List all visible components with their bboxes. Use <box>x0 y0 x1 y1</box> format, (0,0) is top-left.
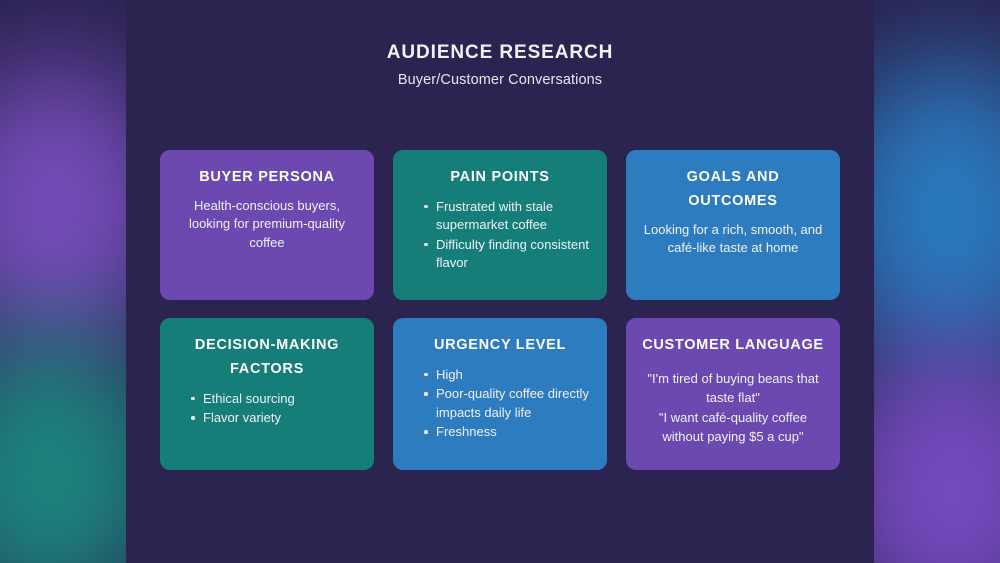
list-item: Poor-quality coffee directly impacts dai… <box>423 385 591 422</box>
card-body: Health-conscious buyers, looking for pre… <box>176 197 358 252</box>
slide-header: AUDIENCE RESEARCH Buyer/Customer Convers… <box>0 42 1000 88</box>
page-title: AUDIENCE RESEARCH <box>0 42 1000 64</box>
page-subtitle: Buyer/Customer Conversations <box>0 72 1000 88</box>
list-item: Frustrated with stale supermarket coffee <box>423 198 591 235</box>
card-bullet-list: HighPoor-quality coffee directly impacts… <box>409 366 591 443</box>
card-bullet-list: Frustrated with stale supermarket coffee… <box>409 198 591 274</box>
customer-quote: "I want café-quality coffee without payi… <box>642 408 824 447</box>
list-item: Ethical sourcing <box>190 390 295 408</box>
card-urgency-level[interactable]: URGENCY LEVELHighPoor-quality coffee dir… <box>393 318 607 470</box>
card-grid: BUYER PERSONAHealth-conscious buyers, lo… <box>160 150 840 470</box>
list-item: Freshness <box>423 423 497 441</box>
card-quote-list: "I'm tired of buying beans that taste fl… <box>642 369 824 447</box>
card-customer-language[interactable]: CUSTOMER LANGUAGE"I'm tired of buying be… <box>626 318 840 470</box>
card-bullet-list: Ethical sourcingFlavor variety <box>176 390 358 429</box>
card-title: GOALS AND OUTCOMES <box>642 166 824 214</box>
card-decision-making-factors[interactable]: DECISION-MAKING FACTORSEthical sourcingF… <box>160 318 374 470</box>
card-title: DECISION-MAKING FACTORS <box>176 334 358 382</box>
card-pain-points[interactable]: PAIN POINTSFrustrated with stale superma… <box>393 150 607 300</box>
card-goals-and-outcomes[interactable]: GOALS AND OUTCOMESLooking for a rich, sm… <box>626 150 840 300</box>
card-title: URGENCY LEVEL <box>434 334 566 358</box>
list-item: High <box>423 366 463 384</box>
list-item: Flavor variety <box>190 409 281 427</box>
card-title: BUYER PERSONA <box>199 166 335 190</box>
list-item: Difficulty finding consistent flavor <box>423 236 591 273</box>
card-buyer-persona[interactable]: BUYER PERSONAHealth-conscious buyers, lo… <box>160 150 374 300</box>
customer-quote: "I'm tired of buying beans that taste fl… <box>642 369 824 408</box>
card-body: Looking for a rich, smooth, and café-lik… <box>642 221 824 258</box>
card-title: CUSTOMER LANGUAGE <box>642 334 824 358</box>
card-title: PAIN POINTS <box>450 166 549 190</box>
